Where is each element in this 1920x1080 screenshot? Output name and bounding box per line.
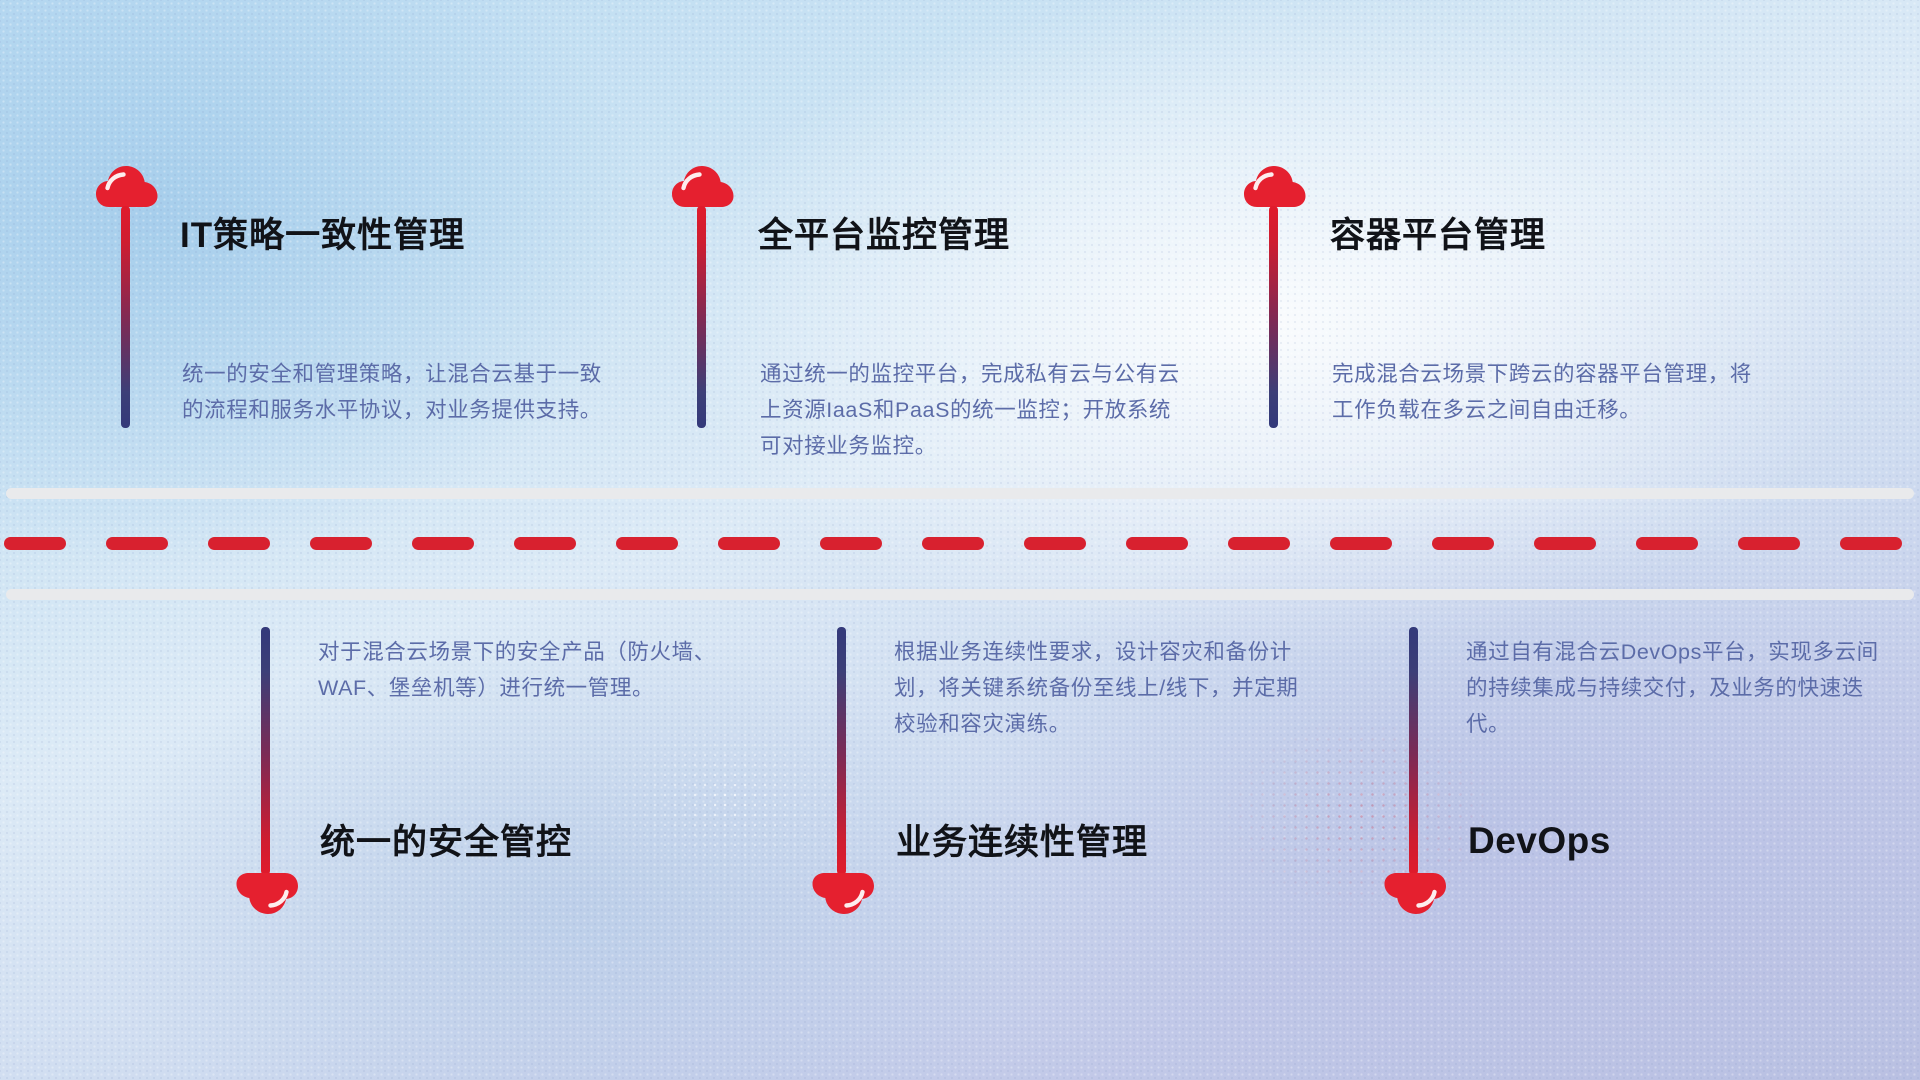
divider-dash <box>106 537 168 550</box>
divider-dash <box>514 537 576 550</box>
divider-dash <box>208 537 270 550</box>
stem-bar <box>261 627 270 875</box>
divider-dash <box>1126 537 1188 550</box>
divider-dash <box>310 537 372 550</box>
divider-dash <box>1534 537 1596 550</box>
divider-dash <box>4 537 66 550</box>
cloud-icon <box>1384 870 1446 914</box>
bottom-body-3: 通过自有混合云DevOps平台，实现多云间的持续集成与持续交付，及业务的快速迭代… <box>1466 634 1886 742</box>
infographic-canvas: IT策略一致性管理 统一的安全和管理策略，让混合云基于一致的流程和服务水平协议，… <box>0 0 1920 1080</box>
divider-dash <box>1330 537 1392 550</box>
cloud-icon <box>812 870 874 914</box>
top-body-3: 完成混合云场景下跨云的容器平台管理，将工作负载在多云之间自由迁移。 <box>1332 356 1752 428</box>
divider-dash <box>718 537 780 550</box>
background-dot-cluster-white <box>520 670 940 930</box>
divider-dashed-line <box>0 536 1920 550</box>
divider-dash <box>820 537 882 550</box>
stem-bar <box>121 206 130 428</box>
top-body-1: 统一的安全和管理策略，让混合云基于一致的流程和服务水平协议，对业务提供支持。 <box>182 356 606 428</box>
cloud-icon <box>672 166 734 210</box>
bottom-title-3: DevOps <box>1468 822 1611 859</box>
bottom-body-2: 根据业务连续性要求，设计容灾和备份计划，将关键系统备份至线上/线下，并定期校验和… <box>894 634 1314 742</box>
cloud-icon <box>96 166 158 210</box>
top-title-1: IT策略一致性管理 <box>180 218 465 253</box>
cloud-icon <box>1244 166 1306 210</box>
bottom-title-2: 业务连续性管理 <box>896 825 1148 860</box>
divider-dash <box>412 537 474 550</box>
divider-dash <box>922 537 984 550</box>
top-title-2: 全平台监控管理 <box>758 218 1010 253</box>
top-title-3: 容器平台管理 <box>1330 218 1546 253</box>
divider-dash <box>1024 537 1086 550</box>
stem-bar <box>1269 206 1278 428</box>
divider-dash <box>1840 537 1902 550</box>
stem-bar <box>837 627 846 875</box>
divider-dash <box>1636 537 1698 550</box>
divider-dash <box>616 537 678 550</box>
stem-bar <box>1409 627 1418 875</box>
bottom-title-1: 统一的安全管控 <box>320 825 572 860</box>
divider-dash <box>1228 537 1290 550</box>
cloud-icon <box>236 870 298 914</box>
top-body-2: 通过统一的监控平台，完成私有云与公有云上资源IaaS和PaaS的统一监控；开放系… <box>760 356 1192 464</box>
divider-dash <box>1432 537 1494 550</box>
divider-rail-top <box>6 488 1914 499</box>
divider-rail-bottom <box>6 589 1914 600</box>
stem-bar <box>697 206 706 428</box>
divider-dash <box>1738 537 1800 550</box>
bottom-body-1: 对于混合云场景下的安全产品（防火墙、WAF、堡垒机等）进行统一管理。 <box>318 634 738 706</box>
